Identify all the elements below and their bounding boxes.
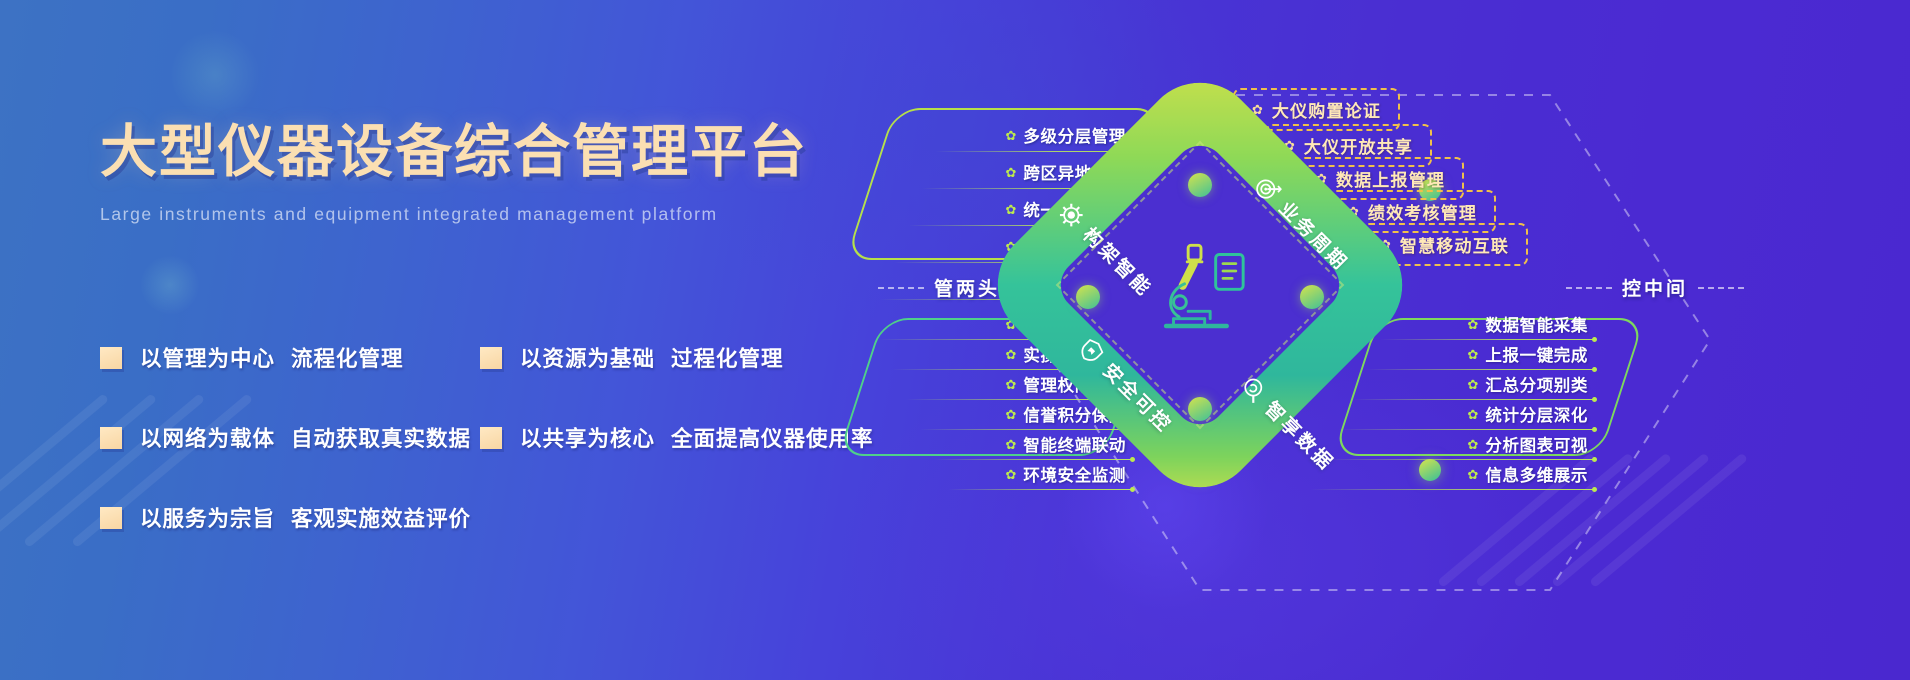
panel-bottom-right-list: ✿ 数据智能采集 ✿ 上报一键完成 ✿ 汇总分项别类 ✿ 统计分层深化 ✿	[1340, 312, 1588, 492]
star-icon: ✿	[1467, 378, 1478, 391]
list-item-label: 上报一键完成	[1485, 342, 1588, 366]
star-icon: ✿	[1005, 166, 1016, 179]
star-icon: ✿	[1467, 468, 1478, 481]
feature-bullet-list: 以管理为中心流程化管理 以资源为基础过程化管理 以网络为载体自动获取真实数据 以…	[100, 342, 900, 533]
star-icon: ✿	[1005, 378, 1016, 391]
bullet-text: 以网络为载体自动获取真实数据	[140, 422, 471, 453]
glow-blob-top	[170, 30, 260, 120]
list-item: 以服务为宗旨客观实施效益评价	[100, 502, 480, 533]
star-icon: ✿	[1005, 468, 1016, 481]
hero-text-block: 大型仪器设备综合管理平台 Large instruments and equip…	[100, 120, 900, 225]
underline-rule	[1310, 489, 1594, 490]
dash-line	[1698, 287, 1744, 289]
list-item-label: 分析图表可视	[1485, 432, 1588, 456]
axis-label-right: 控中间	[1566, 274, 1744, 301]
bullet-square-icon	[480, 427, 502, 449]
star-icon: ✿	[1005, 203, 1016, 216]
list-item: 以管理为中心流程化管理	[100, 342, 480, 373]
bullet-square-icon	[100, 507, 122, 529]
list-item-label: 环境安全监测	[1023, 462, 1126, 486]
architecture-diagram: 管两头 控中间 ✿ 多级分层管理 ✿ 跨区异地管控 ✿ 统一身份认证	[850, 0, 1910, 680]
bullet-square-icon	[100, 347, 122, 369]
bullet-text: 以资源为基础过程化管理	[520, 342, 784, 373]
underline-rule	[1366, 369, 1594, 370]
list-item: 以网络为载体自动获取真实数据	[100, 422, 480, 453]
page-subtitle: Large instruments and equipment integrat…	[100, 204, 900, 225]
list-item: ✿ 信息多维展示	[1310, 462, 1588, 490]
microscope-icon	[1146, 238, 1256, 338]
star-icon: ✿	[1467, 438, 1478, 451]
star-icon: ✿	[1467, 348, 1478, 361]
list-item-label: 信息多维展示	[1485, 462, 1588, 486]
star-icon: ✿	[1467, 408, 1478, 421]
underline-rule	[1380, 339, 1594, 340]
page-title: 大型仪器设备综合管理平台	[100, 120, 900, 186]
list-item: ✿ 分析图表可视	[1324, 432, 1588, 460]
inner-node-dot	[1188, 173, 1212, 197]
list-item-label: 数据智能采集	[1485, 312, 1588, 336]
star-icon: ✿	[1005, 129, 1016, 142]
list-item: ✿ 统计分层深化	[1338, 402, 1588, 430]
underline-rule	[1324, 459, 1594, 460]
bullet-square-icon	[480, 347, 502, 369]
list-item: ✿ 数据智能采集	[1380, 312, 1588, 340]
pill-label: 智慧移动互联	[1400, 232, 1509, 257]
inner-node-dot	[1188, 397, 1212, 421]
list-item: 以资源为基础过程化管理	[480, 342, 860, 373]
star-icon: ✿	[1005, 438, 1016, 451]
bullet-text: 以管理为中心流程化管理	[140, 342, 404, 373]
list-item: ✿ 汇总分项别类	[1352, 372, 1588, 400]
inner-node-dot	[1300, 285, 1324, 309]
list-item: ✿ 上报一键完成	[1366, 342, 1588, 370]
underline-rule	[934, 459, 1132, 460]
bullet-text: 以共享为核心全面提高仪器使用率	[520, 422, 874, 453]
underline-rule	[948, 489, 1132, 490]
pill-label: 大仪购置论证	[1272, 97, 1381, 122]
bullet-text: 以服务为宗旨客观实施效益评价	[140, 502, 471, 533]
list-item: ✿ 环境安全监测	[948, 462, 1126, 490]
star-icon: ✿	[1467, 318, 1478, 331]
underline-rule	[1338, 429, 1594, 430]
bullet-square-icon	[100, 427, 122, 449]
list-item-label: 汇总分项别类	[1485, 372, 1588, 396]
axis-label-right-text: 控中间	[1622, 274, 1688, 301]
inner-node-dot	[1076, 285, 1100, 309]
star-icon: ✿	[1005, 348, 1016, 361]
dash-line	[1566, 287, 1612, 289]
glow-blob-mid	[140, 255, 200, 315]
list-item-label: 统计分层深化	[1485, 402, 1588, 426]
star-icon: ✿	[1005, 408, 1016, 421]
banner-stage: 大型仪器设备综合管理平台 Large instruments and equip…	[0, 0, 1910, 680]
underline-rule	[1352, 399, 1594, 400]
pill-label: 绩效考核管理	[1368, 199, 1477, 224]
list-item: 以共享为核心全面提高仪器使用率	[480, 422, 860, 453]
